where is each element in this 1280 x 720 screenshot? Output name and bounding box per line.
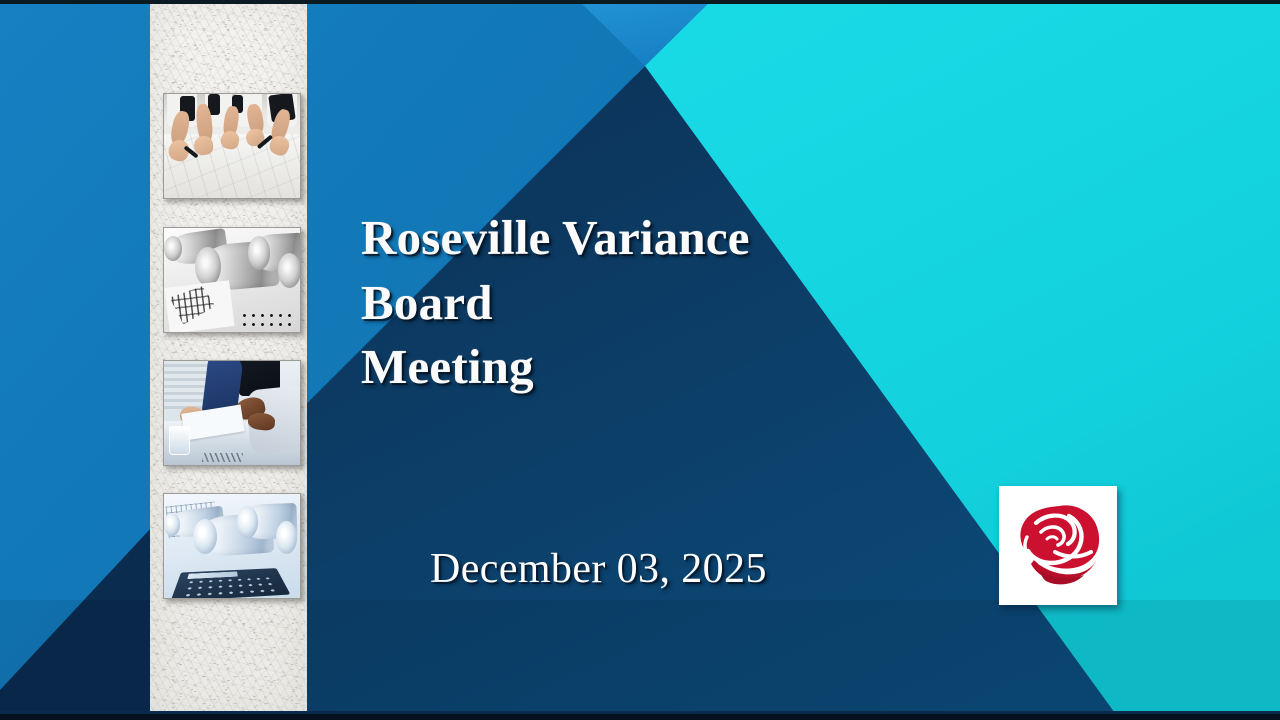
letterbox-bottom-bar — [0, 714, 1280, 720]
photo-hands-blueprints — [163, 93, 301, 199]
meeting-date: December 03, 2025 — [430, 545, 767, 593]
photo-document-review — [163, 360, 301, 466]
title-line-3: Meeting — [361, 335, 881, 400]
title-slide: Roseville Variance Board Meeting Decembe… — [0, 0, 1280, 720]
photo-plans-calculator — [163, 493, 301, 599]
photo-rolled-blueprints — [163, 227, 301, 333]
roseville-rose-logo — [999, 486, 1117, 605]
slide-title: Roseville Variance Board Meeting — [361, 206, 881, 400]
rose-icon — [1010, 500, 1106, 592]
title-line-1: Roseville Variance — [361, 206, 881, 271]
letterbox-top-bar — [0, 0, 1280, 4]
title-line-2: Board — [361, 271, 881, 336]
